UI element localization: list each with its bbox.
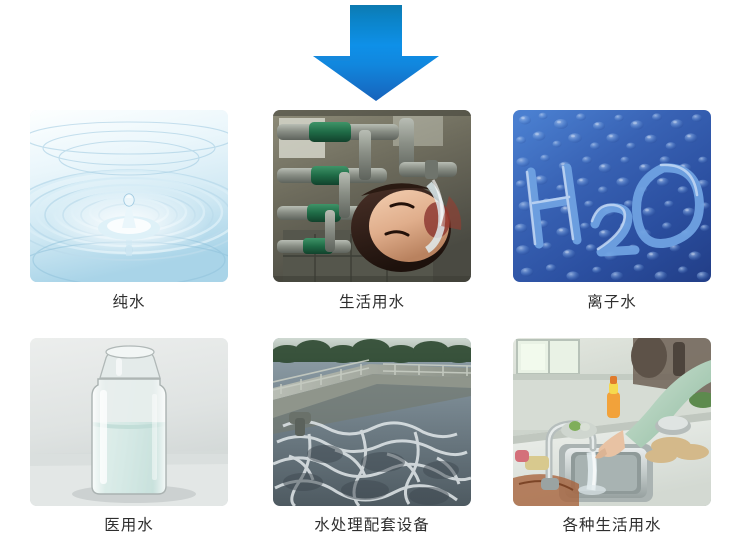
aeration-basin-image <box>273 338 471 506</box>
water-droplet-ripples-image <box>30 110 228 282</box>
kitchen-sink-image <box>513 338 711 506</box>
gallery-item-pure-water[interactable]: 纯水 <box>30 110 228 311</box>
thumbnail-aeration-basin[interactable] <box>273 338 471 506</box>
gallery-item-various-domestic-water[interactable]: 各种生活用水 <box>513 338 711 534</box>
h2o-water-droplets-image <box>513 110 711 282</box>
child-drinking-from-tap-image <box>273 110 471 282</box>
gallery-row: 纯水 <box>0 110 750 311</box>
gallery-item-domestic-water[interactable]: 生活用水 <box>273 110 471 311</box>
gallery-item-medical-water[interactable]: 医用水 <box>30 338 228 534</box>
gallery-item-caption: 各种生活用水 <box>562 518 661 534</box>
thumbnail-child-drinking-from-tap[interactable] <box>273 110 471 282</box>
gallery-item-caption: 医用水 <box>104 518 154 534</box>
thumbnail-water-droplet-ripples[interactable] <box>30 110 228 282</box>
image-gallery: 纯水 <box>0 110 750 533</box>
gallery-item-caption: 生活用水 <box>339 295 405 311</box>
thumbnail-reagent-bottle[interactable] <box>30 338 228 506</box>
gallery-item-water-treatment-equipment[interactable]: 水处理配套设备 <box>273 338 471 534</box>
gallery-item-caption: 水处理配套设备 <box>314 518 430 534</box>
down-arrow-icon <box>312 4 440 102</box>
down-arrow-graphic <box>312 4 440 102</box>
reagent-bottle-image <box>30 338 228 506</box>
gallery-item-ionized-water[interactable]: 离子水 <box>513 110 711 311</box>
thumbnail-h2o-droplets[interactable] <box>513 110 711 282</box>
gallery-item-caption: 离子水 <box>587 295 637 311</box>
gallery-row: 医用水 <box>0 338 750 534</box>
thumbnail-kitchen-sink[interactable] <box>513 338 711 506</box>
gallery-item-caption: 纯水 <box>112 295 145 311</box>
